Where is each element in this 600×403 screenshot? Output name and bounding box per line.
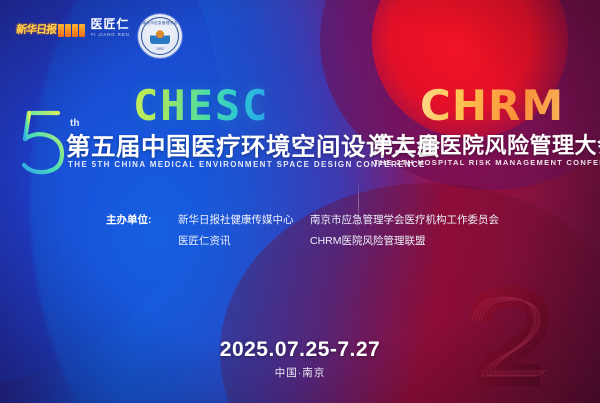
yijiangren-logo-pinyin: YI JIANG REN: [86, 32, 134, 37]
association-seal-logo-year: 1992: [142, 47, 178, 51]
organizer-item: 南京市应急管理学会医疗机构工作委员会: [310, 210, 499, 231]
edition-numeral-icon: [12, 106, 74, 180]
yijiangren-logo-label: 医匠仁: [86, 18, 134, 31]
conference-poster: 新华日报 医匠仁 YI JIANG REN 南京市应急管理学会 1992: [0, 0, 600, 403]
association-seal-logo: 南京市应急管理学会 1992: [138, 14, 182, 58]
organizer-item: 新华日报社健康传媒中心: [178, 210, 310, 231]
seal-emblem-icon: [150, 30, 170, 44]
yijiangren-logo: 医匠仁 YI JIANG REN: [86, 18, 134, 37]
right-title-en: THE 2TH HOSPITAL RISK MANAGEMENT CONFERE…: [374, 158, 600, 167]
xinhua-daily-logo: 新华日报: [16, 20, 74, 40]
chesc-acronym: CHESC: [133, 81, 269, 130]
date-block: 2025.07.25-7.27 中国·南京: [0, 338, 600, 380]
seal-ring: 南京市应急管理学会 1992: [141, 17, 179, 55]
event-date: 2025.07.25-7.27: [0, 338, 600, 362]
association-seal-logo-label: 南京市应急管理学会: [142, 21, 178, 26]
logo-bar: 新华日报 医匠仁 YI JIANG REN 南京市应急管理学会 1992: [0, 14, 600, 66]
chrm-acronym: CHRM: [420, 81, 564, 130]
organizers-column-a: 新华日报社健康传媒中心 医匠仁资讯: [178, 210, 310, 252]
organizers-column-b: 南京市应急管理学会医疗机构工作委员会 CHRM医院风险管理联盟: [310, 210, 499, 252]
xinhua-daily-logo-label: 新华日报: [15, 25, 56, 36]
xinhua-daily-logo-blocks: [58, 24, 85, 37]
headline-block: th CHESC 第五届中国医疗环境空间设计大会 THE 5TH CHINA M…: [0, 82, 600, 192]
left-title-en: THE 5TH CHINA MEDICAL ENVIRONMENT SPACE …: [68, 160, 426, 169]
organizers-block: 主办单位: 新华日报社健康传媒中心 医匠仁资讯 南京市应急管理学会医疗机构工作委…: [106, 210, 499, 252]
event-location: 中国·南京: [0, 365, 600, 380]
right-title-cn: 第二届医院风险管理大会: [372, 128, 600, 160]
organizers-label: 主办单位:: [106, 210, 178, 252]
organizer-item: 医匠仁资讯: [178, 231, 310, 252]
organizer-item: CHRM医院风险管理联盟: [310, 231, 499, 252]
edition-numeral: th: [12, 106, 74, 185]
